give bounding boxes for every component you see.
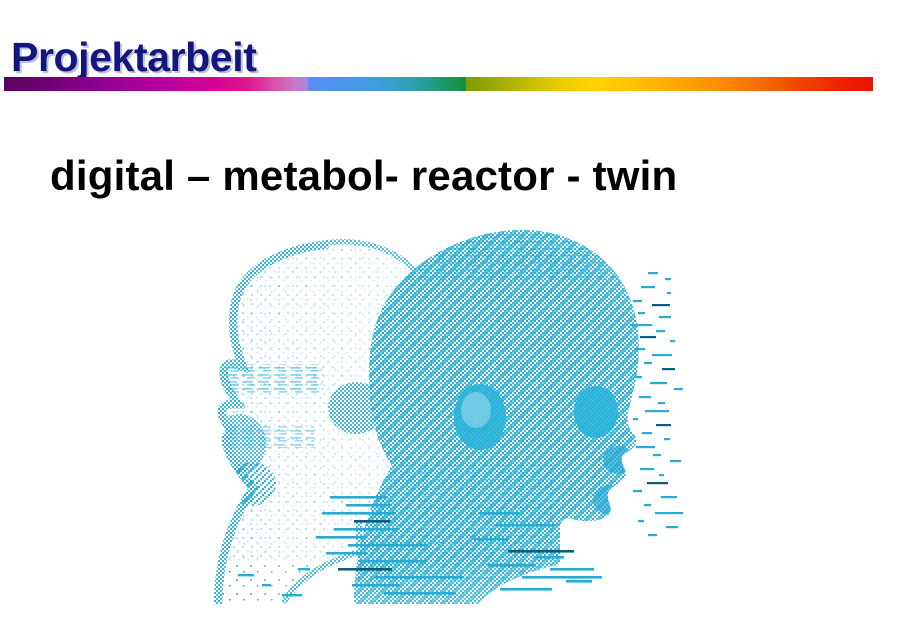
rainbow-divider [4, 77, 873, 91]
presentation-slide: Projektarbeit digital – metabol- reactor… [0, 0, 922, 635]
digital-twin-heads-svg [178, 212, 706, 604]
page-title: Projektarbeit [11, 35, 256, 80]
digital-twin-heads-illustration [178, 212, 706, 604]
slide-subtitle: digital – metabol- reactor - twin [50, 152, 677, 200]
